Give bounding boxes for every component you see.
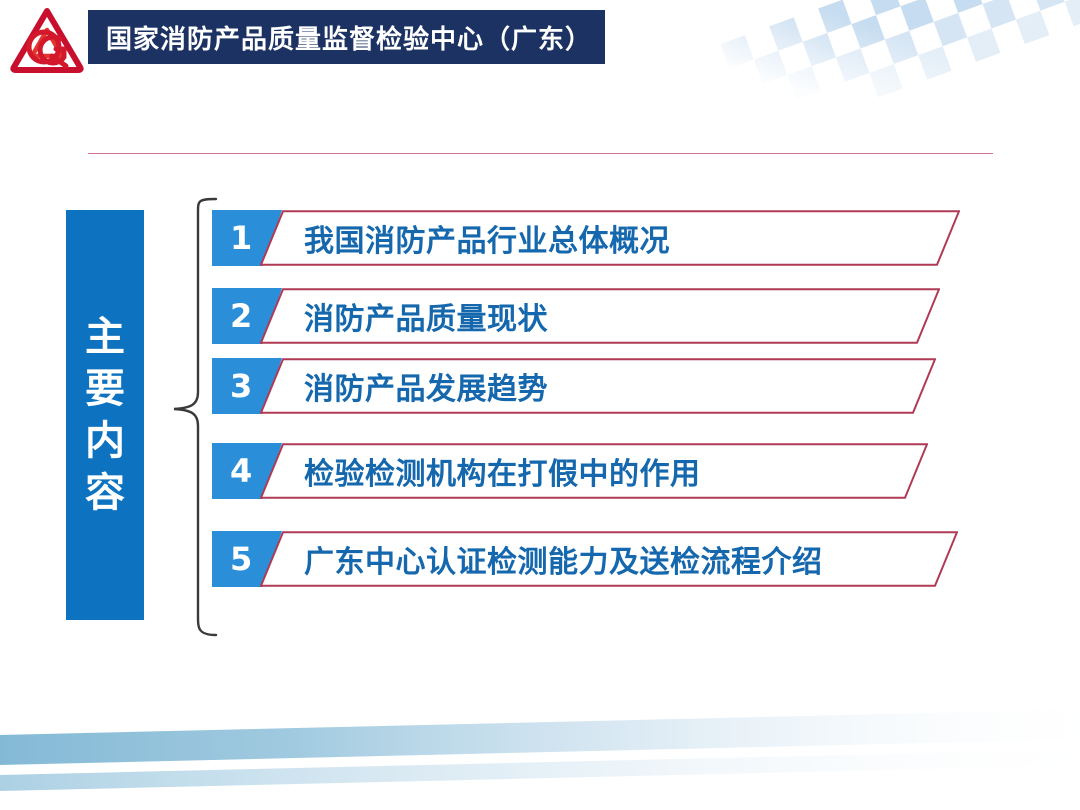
content-plate-4: 检验检测机构在打假中的作用: [260, 443, 928, 499]
bottom-decoration-band: [0, 708, 1080, 810]
main-contents-sidebar: 主 要 内 容: [66, 210, 144, 620]
cqc-triangle-q-logo: [10, 6, 84, 74]
checkered-squares-decoration: [690, 0, 1080, 102]
content-number-4: 4: [230, 455, 252, 487]
sidebar-char-3: 内: [85, 415, 125, 467]
content-row-1[interactable]: 1 我国消防产品行业总体概况: [212, 210, 962, 266]
sidebar-char-2: 要: [85, 363, 125, 415]
content-label-3: 消防产品发展趋势: [304, 358, 548, 414]
content-number-5: 5: [230, 543, 252, 575]
content-row-2[interactable]: 2 消防产品质量现状: [212, 288, 942, 344]
content-plate-3: 消防产品发展趋势: [260, 358, 936, 414]
content-number-3: 3: [230, 370, 252, 402]
content-number-1: 1: [230, 222, 252, 254]
content-label-2: 消防产品质量现状: [304, 288, 548, 344]
content-row-4[interactable]: 4 检验检测机构在打假中的作用: [212, 443, 930, 499]
content-label-1: 我国消防产品行业总体概况: [304, 210, 670, 266]
page-title: 国家消防产品质量监督检验中心（广东）: [88, 19, 592, 56]
slide-canvas: 国家消防产品质量监督检验中心（广东） 主 要 内 容 1 我国消防产品行业总体概…: [0, 0, 1080, 810]
content-number-2: 2: [230, 300, 252, 332]
content-plate-2: 消防产品质量现状: [260, 288, 940, 344]
header-bar: 国家消防产品质量监督检验中心（广东）: [88, 10, 605, 64]
main-contents-label: 主 要 内 容: [85, 311, 125, 519]
content-row-3[interactable]: 3 消防产品发展趋势: [212, 358, 938, 414]
content-plate-1: 我国消防产品行业总体概况: [260, 210, 960, 266]
content-label-5: 广东中心认证检测能力及送检流程介绍: [304, 531, 823, 587]
content-plate-5: 广东中心认证检测能力及送检流程介绍: [260, 531, 958, 587]
sidebar-char-4: 容: [85, 467, 125, 519]
content-row-5[interactable]: 5 广东中心认证检测能力及送检流程介绍: [212, 531, 960, 587]
header-divider: [88, 153, 993, 154]
sidebar-char-1: 主: [85, 311, 125, 363]
decoration-fade-overlay: [680, 0, 1080, 120]
content-label-4: 检验检测机构在打假中的作用: [304, 443, 701, 499]
